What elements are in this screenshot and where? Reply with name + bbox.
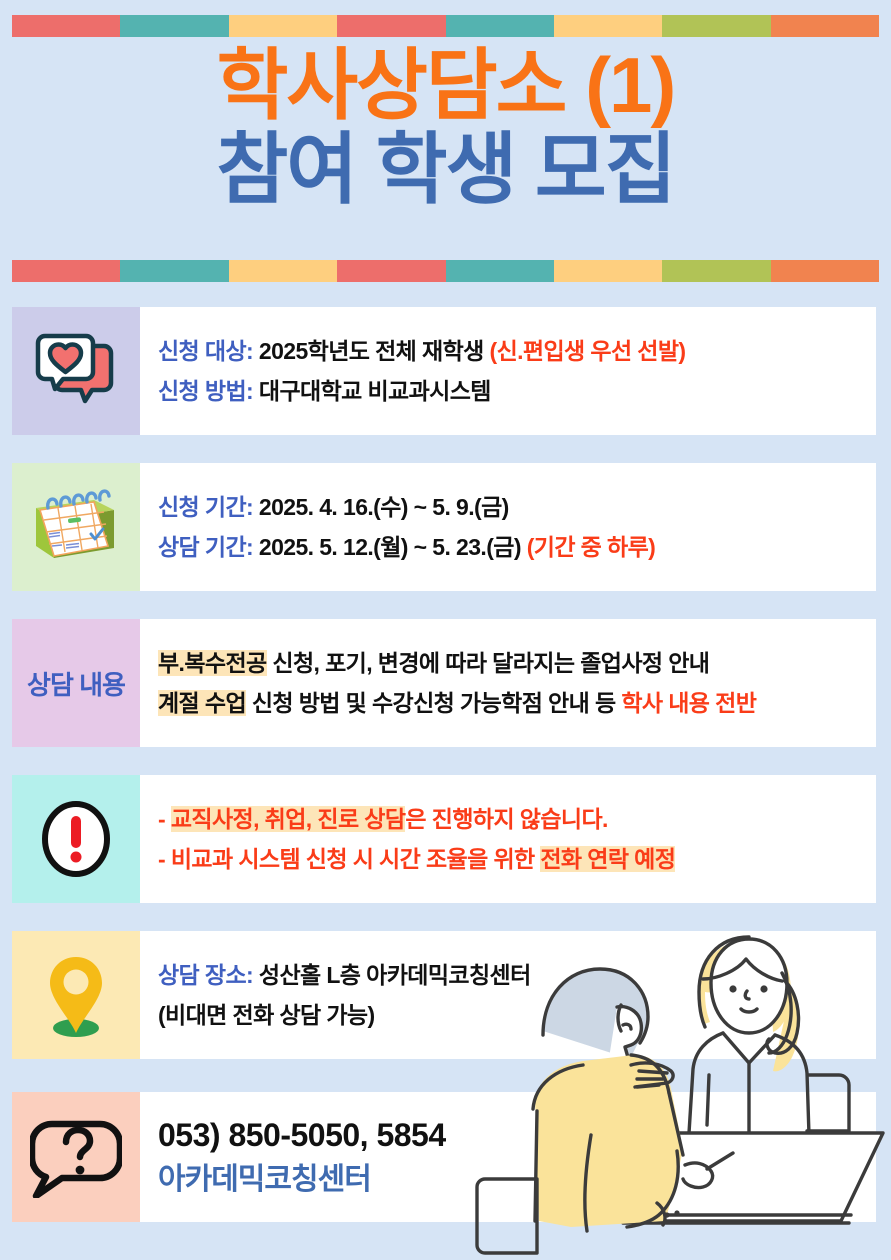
content-line-1: 부.복수전공 신청, 포기, 변경에 따라 달라지는 졸업사정 안내 — [158, 652, 876, 675]
info-row-contact: 053) 850-5050, 5854 아카데믹코칭센터 — [12, 1092, 876, 1222]
exclamation-circle-icon — [12, 775, 140, 903]
location-value: 성산홀 L층 아카데믹코칭센터 — [259, 962, 531, 988]
apply-period-value: 2025. 4. 16.(수) ~ 5. 9.(금) — [259, 494, 509, 520]
contact-center-name: 아카데믹코칭센터 — [158, 1165, 876, 1195]
application-target-line: 신청 대상: 2025학년도 전체 재학생 (신.편입생 우선 선발) — [158, 340, 876, 363]
apply-period-label: 신청 기간: — [158, 494, 253, 520]
notice-highlight-2: 전화 연락 예정 — [540, 846, 675, 872]
content-body-1: 신청, 포기, 변경에 따라 달라지는 졸업사정 안내 — [272, 650, 709, 676]
location-label: 상담 장소: — [158, 962, 253, 988]
info-row-notice: - 교직사정, 취업, 진로 상담은 진행하지 않습니다. - 비교과 시스템 … — [12, 775, 876, 903]
stripe-segment-2 — [120, 15, 228, 37]
stripe-segment-6 — [554, 260, 662, 282]
stripe-segment-6 — [554, 15, 662, 37]
content-body-2: 신청 방법 및 수강신청 가능학점 안내 등 — [252, 690, 616, 716]
application-method-line: 신청 방법: 대구대학교 비교과시스템 — [158, 380, 876, 403]
poster-root: 학사상담소 (1) 참여 학생 모집 신청 대상: 2025학년도 전체 재학생… — [0, 0, 891, 1260]
info-row-period-text: 신청 기간: 2025. 4. 16.(수) ~ 5. 9.(금) 상담 기간:… — [140, 463, 876, 591]
stripe-segment-5 — [446, 260, 554, 282]
content-line-2: 계절 수업 신청 방법 및 수강신청 가능학점 안내 등 학사 내용 전반 — [158, 692, 876, 715]
application-method-value: 대구대학교 비교과시스템 — [259, 378, 491, 404]
counsel-period-line: 상담 기간: 2025. 5. 12.(월) ~ 5. 23.(금) (기간 중… — [158, 536, 876, 559]
info-row-content-text: 부.복수전공 신청, 포기, 변경에 따라 달라지는 졸업사정 안내 계절 수업… — [140, 619, 876, 747]
notice-dash-1: - — [158, 806, 165, 832]
application-method-label: 신청 방법: — [158, 378, 253, 404]
stripe-segment-4 — [337, 260, 445, 282]
notice-dash-2: - — [158, 846, 165, 872]
content-section-label: 상담 내용 — [27, 665, 125, 702]
stripe-segment-3 — [229, 260, 337, 282]
info-row-period: 신청 기간: 2025. 4. 16.(수) ~ 5. 9.(금) 상담 기간:… — [12, 463, 876, 591]
contact-phone[interactable]: 053) 850-5050, 5854 — [158, 1119, 876, 1151]
location-pin-icon — [12, 931, 140, 1059]
title-line-1: 학사상담소 (1) — [0, 46, 891, 126]
info-row-content: 상담 내용 부.복수전공 신청, 포기, 변경에 따라 달라지는 졸업사정 안내… — [12, 619, 876, 747]
calendar-icon — [12, 463, 140, 591]
info-row-location: 상담 장소: 성산홀 L층 아카데믹코칭센터 (비대면 전화 상담 가능) — [12, 931, 876, 1059]
notice-highlight-1: 교직사정, 취업, 진로 상담 — [171, 806, 406, 832]
info-row-application-text: 신청 대상: 2025학년도 전체 재학생 (신.편입생 우선 선발) 신청 방… — [140, 307, 876, 435]
stripe-segment-3 — [229, 15, 337, 37]
content-highlight-1: 부.복수전공 — [158, 650, 267, 676]
content-note-2: 학사 내용 전반 — [621, 690, 756, 716]
stripe-segment-8 — [771, 15, 879, 37]
location-line-1: 상담 장소: 성산홀 L층 아카데믹코칭센터 — [158, 964, 876, 987]
application-target-note: (신.편입생 우선 선발) — [490, 338, 686, 364]
apply-period-line: 신청 기간: 2025. 4. 16.(수) ~ 5. 9.(금) — [158, 496, 876, 519]
stripe-segment-7 — [662, 260, 770, 282]
location-line-2: (비대면 전화 상담 가능) — [158, 1004, 876, 1027]
notice-body-1: 은 진행하지 않습니다. — [405, 806, 607, 832]
title-line-2: 참여 학생 모집 — [0, 130, 891, 210]
info-row-location-text: 상담 장소: 성산홀 L층 아카데믹코칭센터 (비대면 전화 상담 가능) — [140, 931, 876, 1059]
info-row-notice-text: - 교직사정, 취업, 진로 상담은 진행하지 않습니다. - 비교과 시스템 … — [140, 775, 876, 903]
content-highlight-2: 계절 수업 — [158, 690, 246, 716]
stripe-segment-2 — [120, 260, 228, 282]
decorative-stripe-top — [12, 15, 879, 37]
application-target-label: 신청 대상: — [158, 338, 253, 364]
application-target-value: 2025학년도 전체 재학생 — [259, 338, 484, 364]
heart-speech-bubble-icon — [12, 307, 140, 435]
decorative-stripe-bottom — [12, 260, 879, 282]
stripe-segment-1 — [12, 260, 120, 282]
info-row-contact-text: 053) 850-5050, 5854 아카데믹코칭센터 — [140, 1092, 876, 1222]
question-speech-bubble-icon — [12, 1092, 140, 1222]
notice-body-2: 비교과 시스템 신청 시 시간 조율을 위한 — [171, 846, 535, 872]
stripe-segment-1 — [12, 15, 120, 37]
counsel-period-note: (기간 중 하루) — [527, 534, 656, 560]
stripe-segment-8 — [771, 260, 879, 282]
content-section-label-cell: 상담 내용 — [12, 619, 140, 747]
stripe-segment-5 — [446, 15, 554, 37]
stripe-segment-7 — [662, 15, 770, 37]
notice-line-2: - 비교과 시스템 신청 시 시간 조율을 위한 전화 연락 예정 — [158, 848, 876, 871]
counsel-period-label: 상담 기간: — [158, 534, 253, 560]
poster-title: 학사상담소 (1) 참여 학생 모집 — [0, 46, 891, 209]
notice-line-1: - 교직사정, 취업, 진로 상담은 진행하지 않습니다. — [158, 808, 876, 831]
counsel-period-value: 2025. 5. 12.(월) ~ 5. 23.(금) — [259, 534, 521, 560]
stripe-segment-4 — [337, 15, 445, 37]
info-row-application: 신청 대상: 2025학년도 전체 재학생 (신.편입생 우선 선발) 신청 방… — [12, 307, 876, 435]
